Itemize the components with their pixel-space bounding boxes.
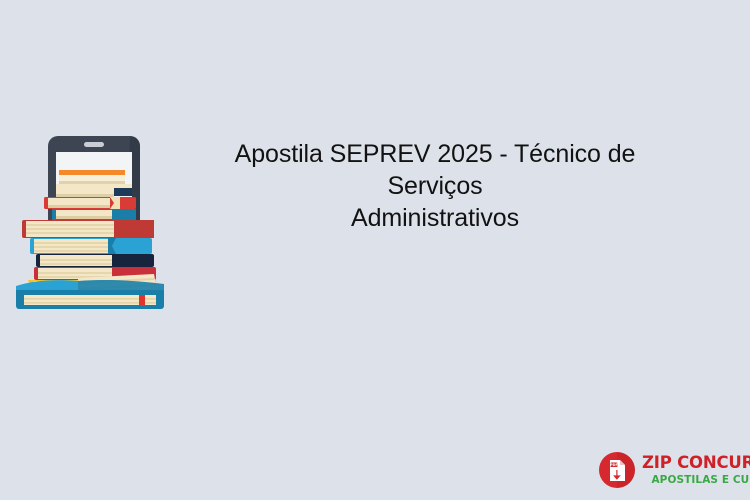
- book-orange-top: [59, 170, 125, 184]
- logo-secondary-text: APOSTILAS E CURSOS: [642, 475, 750, 486]
- pdf-download-icon: PDF: [598, 451, 636, 489]
- book-maroon-5: [22, 220, 154, 238]
- page-title-line-2: Administrativos: [185, 202, 685, 234]
- book-teal-4: [52, 209, 136, 220]
- zip-concursos-logo[interactable]: PDF ZIP CONCURSOS APOSTILAS E CURSOS: [598, 449, 742, 491]
- stack-of-books-icon: [12, 128, 172, 310]
- page-title: Apostila SEPREV 2025 - Técnico de Serviç…: [185, 138, 685, 234]
- bookmark-ribbon: [139, 295, 145, 305]
- book-navy-2: [56, 184, 132, 197]
- logo-primary-text: ZIP CONCURSOS: [642, 455, 750, 472]
- book-teal-base: [16, 280, 164, 309]
- book-blue-6: [30, 238, 152, 254]
- page-title-line-1: Apostila SEPREV 2025 - Técnico de Serviç…: [185, 138, 685, 202]
- logo-wordmark: ZIP CONCURSOS APOSTILAS E CURSOS: [642, 455, 750, 485]
- book-red-3: [44, 197, 136, 209]
- svg-text:PDF: PDF: [610, 463, 618, 467]
- product-banner: Apostila SEPREV 2025 - Técnico de Serviç…: [0, 0, 750, 500]
- book-darknavy-7: [36, 254, 154, 267]
